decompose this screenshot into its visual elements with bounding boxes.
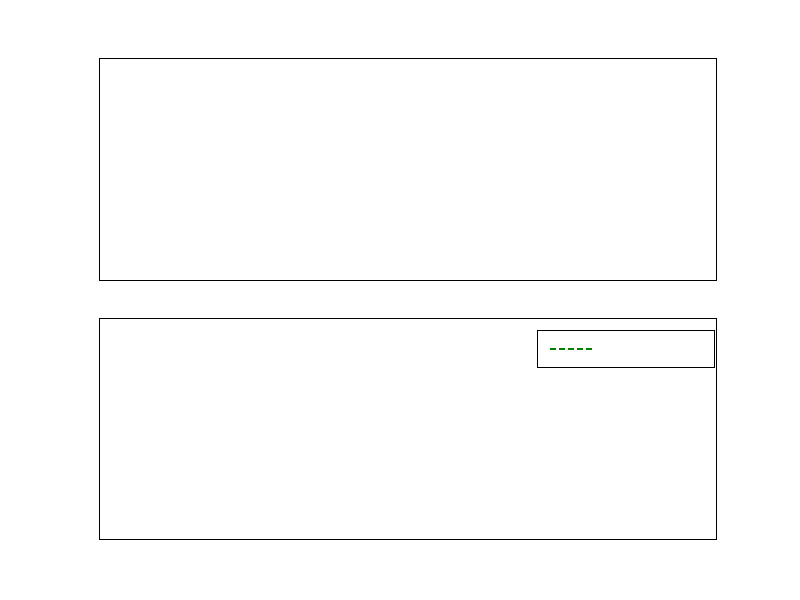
histogram-bars (100, 59, 716, 280)
histogram-axes (99, 58, 717, 281)
histogram-plot-area (100, 59, 716, 280)
legend-box (537, 330, 715, 368)
figure-canvas (0, 0, 800, 600)
cumulative-axes (99, 318, 717, 540)
mag-limit-line-swatch (550, 348, 592, 350)
